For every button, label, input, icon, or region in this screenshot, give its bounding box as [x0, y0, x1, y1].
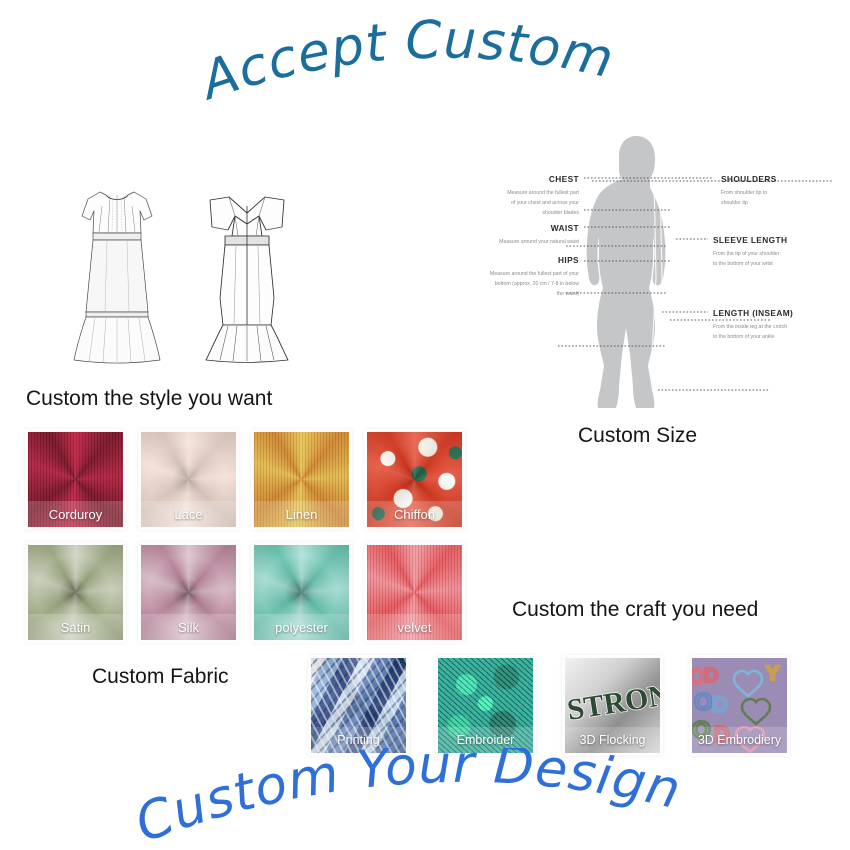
banner-bottom-svg: Custom Your Design — [130, 748, 690, 850]
style-sketch-tiered-maxi-dress — [62, 170, 172, 365]
fabric-label-band: velvet — [367, 614, 462, 640]
svg-text:shoulder tip: shoulder tip — [721, 200, 748, 206]
svg-text:to the bottom of your ankle: to the bottom of your ankle — [713, 334, 775, 340]
fabric-swatch-linen[interactable]: Linen — [254, 432, 349, 527]
banner-top-text: Accept Custom — [191, 18, 619, 113]
chest-label-group: CHEST Measure around the fullest part of… — [507, 174, 579, 216]
svg-text:Y: Y — [766, 663, 780, 685]
fabric-swatch-chiffon[interactable]: Chiffon — [367, 432, 462, 527]
fabric-swatch-satin[interactable]: Satin — [28, 545, 123, 640]
svg-text:From shoulder tip to: From shoulder tip to — [721, 190, 767, 196]
svg-text:bottom (approx. 20 cm / 7-8 in: bottom (approx. 20 cm / 7-8 in below — [495, 281, 579, 287]
fabric-label: Satin — [61, 620, 91, 635]
svg-text:to the bottom of your wrist: to the bottom of your wrist — [713, 261, 773, 267]
svg-text:Measure around the fullest par: Measure around the fullest part — [507, 190, 579, 196]
fabric-label: velvet — [398, 620, 432, 635]
craft-label: Embroider — [457, 733, 515, 747]
caption-custom-craft: Custom the craft you need — [512, 598, 758, 622]
craft-swatch-3d-embroidery[interactable]: O D O D O D Y 3D Embrodiery — [692, 658, 787, 753]
fabric-label: Silk — [178, 620, 199, 635]
caption-custom-fabric: Custom Fabric — [92, 665, 229, 689]
fabric-label-band: Corduroy — [28, 501, 123, 527]
inseam-label-group: LENGTH (INSEAM) From the inside leg at t… — [713, 308, 793, 340]
size-measurement-chart: CHEST Measure around the fullest part of… — [440, 118, 850, 423]
banner-bottom-text: Custom Your Design — [130, 748, 687, 850]
fabric-label-band: Silk — [141, 614, 236, 640]
svg-text:From the tip of your shoulder: From the tip of your shoulder — [713, 251, 780, 257]
craft-label: 3D Flocking — [580, 733, 646, 747]
fabric-label: Lace — [174, 507, 202, 522]
female-body-silhouette — [587, 136, 666, 408]
caption-custom-size: Custom Size — [578, 424, 697, 448]
svg-text:Measure around the fullest par: Measure around the fullest part of your — [490, 271, 579, 277]
fabric-label-band: Lace — [141, 501, 236, 527]
fabric-swatch-silk[interactable]: Silk — [141, 545, 236, 640]
svg-text:of your chest and across your: of your chest and across your — [511, 200, 579, 206]
fabric-label-band: polyester — [254, 614, 349, 640]
size-chart-svg: CHEST Measure around the fullest part of… — [440, 118, 850, 423]
banner-accept-custom: Accept Custom — [150, 18, 670, 128]
svg-text:D: D — [712, 692, 728, 717]
craft-swatch-3d-flocking[interactable]: STRONG 3D Flocking — [565, 658, 660, 753]
dress-sketch-1-svg — [62, 170, 172, 365]
hips-label-group: HIPS Measure around the fullest part of … — [490, 255, 579, 297]
fabric-swatch-lace[interactable]: Lace — [141, 432, 236, 527]
caption-custom-style: Custom the style you want — [26, 387, 272, 411]
fabric-swatch-velvet[interactable]: velvet — [367, 545, 462, 640]
fabric-label: Chiffon — [394, 507, 435, 522]
craft-label-band: 3D Embrodiery — [692, 727, 787, 753]
svg-text:HIPS: HIPS — [558, 255, 579, 265]
dress-sketch-2-svg — [192, 170, 302, 365]
svg-text:shoulder blades: shoulder blades — [542, 210, 579, 216]
svg-text:CHEST: CHEST — [549, 174, 579, 184]
craft-swatch-embroider[interactable]: Embroider — [438, 658, 533, 753]
svg-text:O: O — [694, 689, 713, 716]
craft-label: 3D Embrodiery — [698, 733, 781, 747]
fabric-swatch-polyester[interactable]: polyester — [254, 545, 349, 640]
svg-text:LENGTH (INSEAM): LENGTH (INSEAM) — [713, 308, 793, 318]
fabric-label: Corduroy — [49, 507, 102, 522]
svg-text:From the inside leg at the cro: From the inside leg at the crotch — [713, 324, 787, 330]
fabric-swatch-corduroy[interactable]: Corduroy — [28, 432, 123, 527]
fabric-label-band: Satin — [28, 614, 123, 640]
svg-text:Measure around your natural wa: Measure around your natural waist — [499, 239, 579, 245]
svg-text:SLEEVE LENGTH: SLEEVE LENGTH — [713, 235, 787, 245]
svg-text:WAIST: WAIST — [551, 223, 579, 233]
style-sketch-off-shoulder-mermaid-dress — [192, 170, 302, 365]
fabric-label-band: Linen — [254, 501, 349, 527]
craft-label: Printing — [337, 733, 379, 747]
craft-swatch-printing[interactable]: Printing — [311, 658, 406, 753]
waist-label-group: WAIST Measure around your natural waist — [499, 223, 579, 245]
svg-text:D: D — [704, 665, 718, 687]
custom-dress-infographic: Accept Custom — [0, 0, 850, 850]
fabric-label: polyester — [275, 620, 328, 635]
svg-text:SHOULDERS: SHOULDERS — [721, 174, 777, 184]
shoulders-label-group: SHOULDERS From shoulder tip to shoulder … — [721, 174, 777, 206]
fabric-label: Linen — [286, 507, 318, 522]
banner-custom-your-design: Custom Your Design — [130, 748, 690, 850]
fabric-label-band: Chiffon — [367, 501, 462, 527]
sleeve-length-label-group: SLEEVE LENGTH From the tip of your shoul… — [713, 235, 787, 267]
svg-text:the waist): the waist) — [557, 291, 579, 297]
svg-text:STRONG: STRONG — [565, 674, 660, 726]
banner-top-svg: Accept Custom — [150, 18, 670, 128]
